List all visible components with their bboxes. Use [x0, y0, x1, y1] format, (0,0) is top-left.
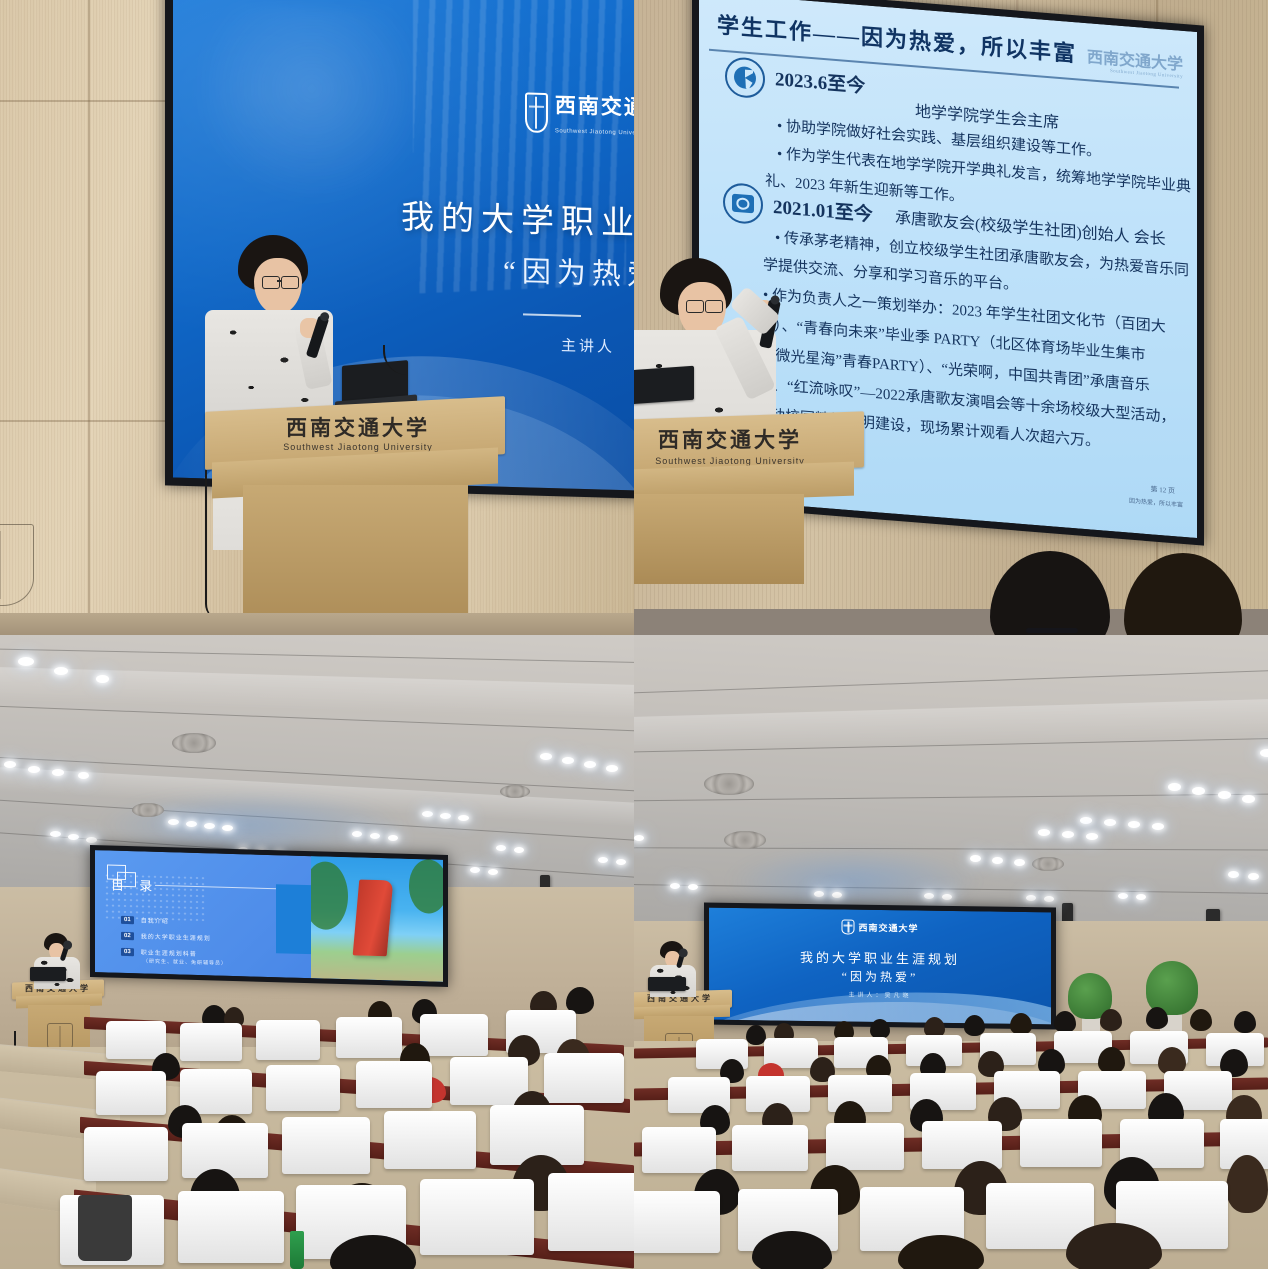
sjtu-logo: 西南交通大学 [841, 919, 918, 935]
slide-watermark: 西南交通大学 Southwest Jiaotong University [1087, 43, 1183, 80]
toc-item: 03 职业生涯规划科普 [121, 947, 197, 958]
ceiling-vent [1032, 857, 1064, 871]
panel-bottom-left: 目 录 01 自我介绍 02 我的大学职业生涯规划 03 职业生涯规划科普 [0, 635, 634, 1269]
podium-text-en: Southwest Jiaotong University [283, 442, 433, 452]
toc-item-number: 03 [121, 947, 134, 955]
ceiling-vent [724, 831, 766, 849]
ceiling-vent [500, 785, 530, 798]
toc-slide: 目 录 01 自我介绍 02 我的大学职业生涯规划 03 职业生涯规划科普 [95, 850, 443, 982]
led-screen-frame: 目 录 01 自我介绍 02 我的大学职业生涯规划 03 职业生涯规划科普 [90, 845, 448, 987]
slide-subheading: “因为热爱” [503, 248, 634, 295]
laptop [30, 967, 66, 981]
toc-item: 02 我的大学职业生涯规划 [121, 931, 211, 943]
wall-seam [0, 420, 175, 422]
toc-item-label: 自我介绍 [141, 915, 169, 925]
laptop [634, 366, 694, 404]
toc-item: （研究生、就业、免研辅导员） [143, 957, 227, 966]
sjtu-logo-en: Southwest Jiaotong University [555, 128, 634, 137]
ceiling [634, 635, 1268, 935]
backpack [78, 1195, 132, 1261]
mini-title-slide: 西南交通大学 我的大学职业生涯规划 “因为热爱” 主讲人：吴凡晓 [709, 908, 1051, 1025]
water-bottle [290, 1231, 304, 1269]
floor-cable [205, 470, 221, 620]
mini-slide-subheading: “因为热爱” [842, 967, 919, 985]
slide-divider [523, 313, 581, 317]
sjtu-logo-cn: 西南交通大学 [858, 921, 918, 935]
photo-collage: 西南交通大学 Southwest Jiaotong University 我的大… [0, 0, 1268, 1269]
mini-slide-heading: 我的大学职业生涯规划 [800, 947, 960, 968]
panel-bottom-right: 西南交通大学 我的大学职业生涯规划 “因为热爱” 主讲人：吴凡晓 西南交通大学 [634, 635, 1268, 1269]
toc-item-label: 职业生涯规划科普 [141, 947, 197, 958]
sjtu-crest-icon [841, 919, 854, 934]
aperture-icon [725, 56, 765, 99]
led-screen-frame: 西南交通大学 我的大学职业生涯规划 “因为热爱” 主讲人：吴凡晓 [704, 903, 1056, 1030]
content-slide-heading: 学生工作——因为热爱，所以丰富 [717, 7, 1077, 68]
podium-text-cn: 西南交通大学 [286, 412, 430, 442]
toc-campus-photo [311, 856, 443, 982]
eyeglasses-icon [1026, 628, 1078, 633]
panel-top-right: 学生工作——因为热爱，所以丰富 西南交通大学 Southwest Jiaoton… [634, 0, 1268, 635]
toc-item-number: 02 [121, 931, 134, 939]
toc-item-label: 我的大学职业生涯规划 [141, 931, 211, 942]
toc-title: 目 录 [111, 875, 158, 895]
laptop [648, 977, 686, 991]
wall-seam [88, 0, 90, 635]
sjtu-logo: 西南交通大学 Southwest Jiaotong University [525, 88, 634, 141]
campus-monument [352, 879, 393, 955]
ceiling-vent [172, 733, 216, 753]
podium-text-cn: 西南交通大学 [658, 424, 802, 454]
panel-top-left: 西南交通大学 Southwest Jiaotong University 我的大… [0, 0, 634, 635]
sjtu-crest-icon [525, 92, 548, 133]
ceiling-vent [132, 803, 164, 817]
sjtu-logo-cn: 西南交通大学 [555, 93, 634, 121]
toc-item: 01 自我介绍 [121, 915, 169, 925]
block-date: 2023.6至今 [775, 64, 865, 98]
slide-footnote: 因为热爱，所以丰富 [1129, 496, 1183, 509]
wall-seam [0, 100, 170, 102]
slide-presenter-label: 主讲人 [561, 334, 615, 357]
camera-icon [723, 182, 763, 225]
ceiling-vent [704, 773, 754, 795]
floor [0, 613, 634, 635]
toc-item-label: （研究生、就业、免研辅导员） [143, 957, 227, 966]
toc-item-number: 01 [121, 915, 134, 923]
slide-footnote: 第 12 页 [1151, 484, 1176, 496]
